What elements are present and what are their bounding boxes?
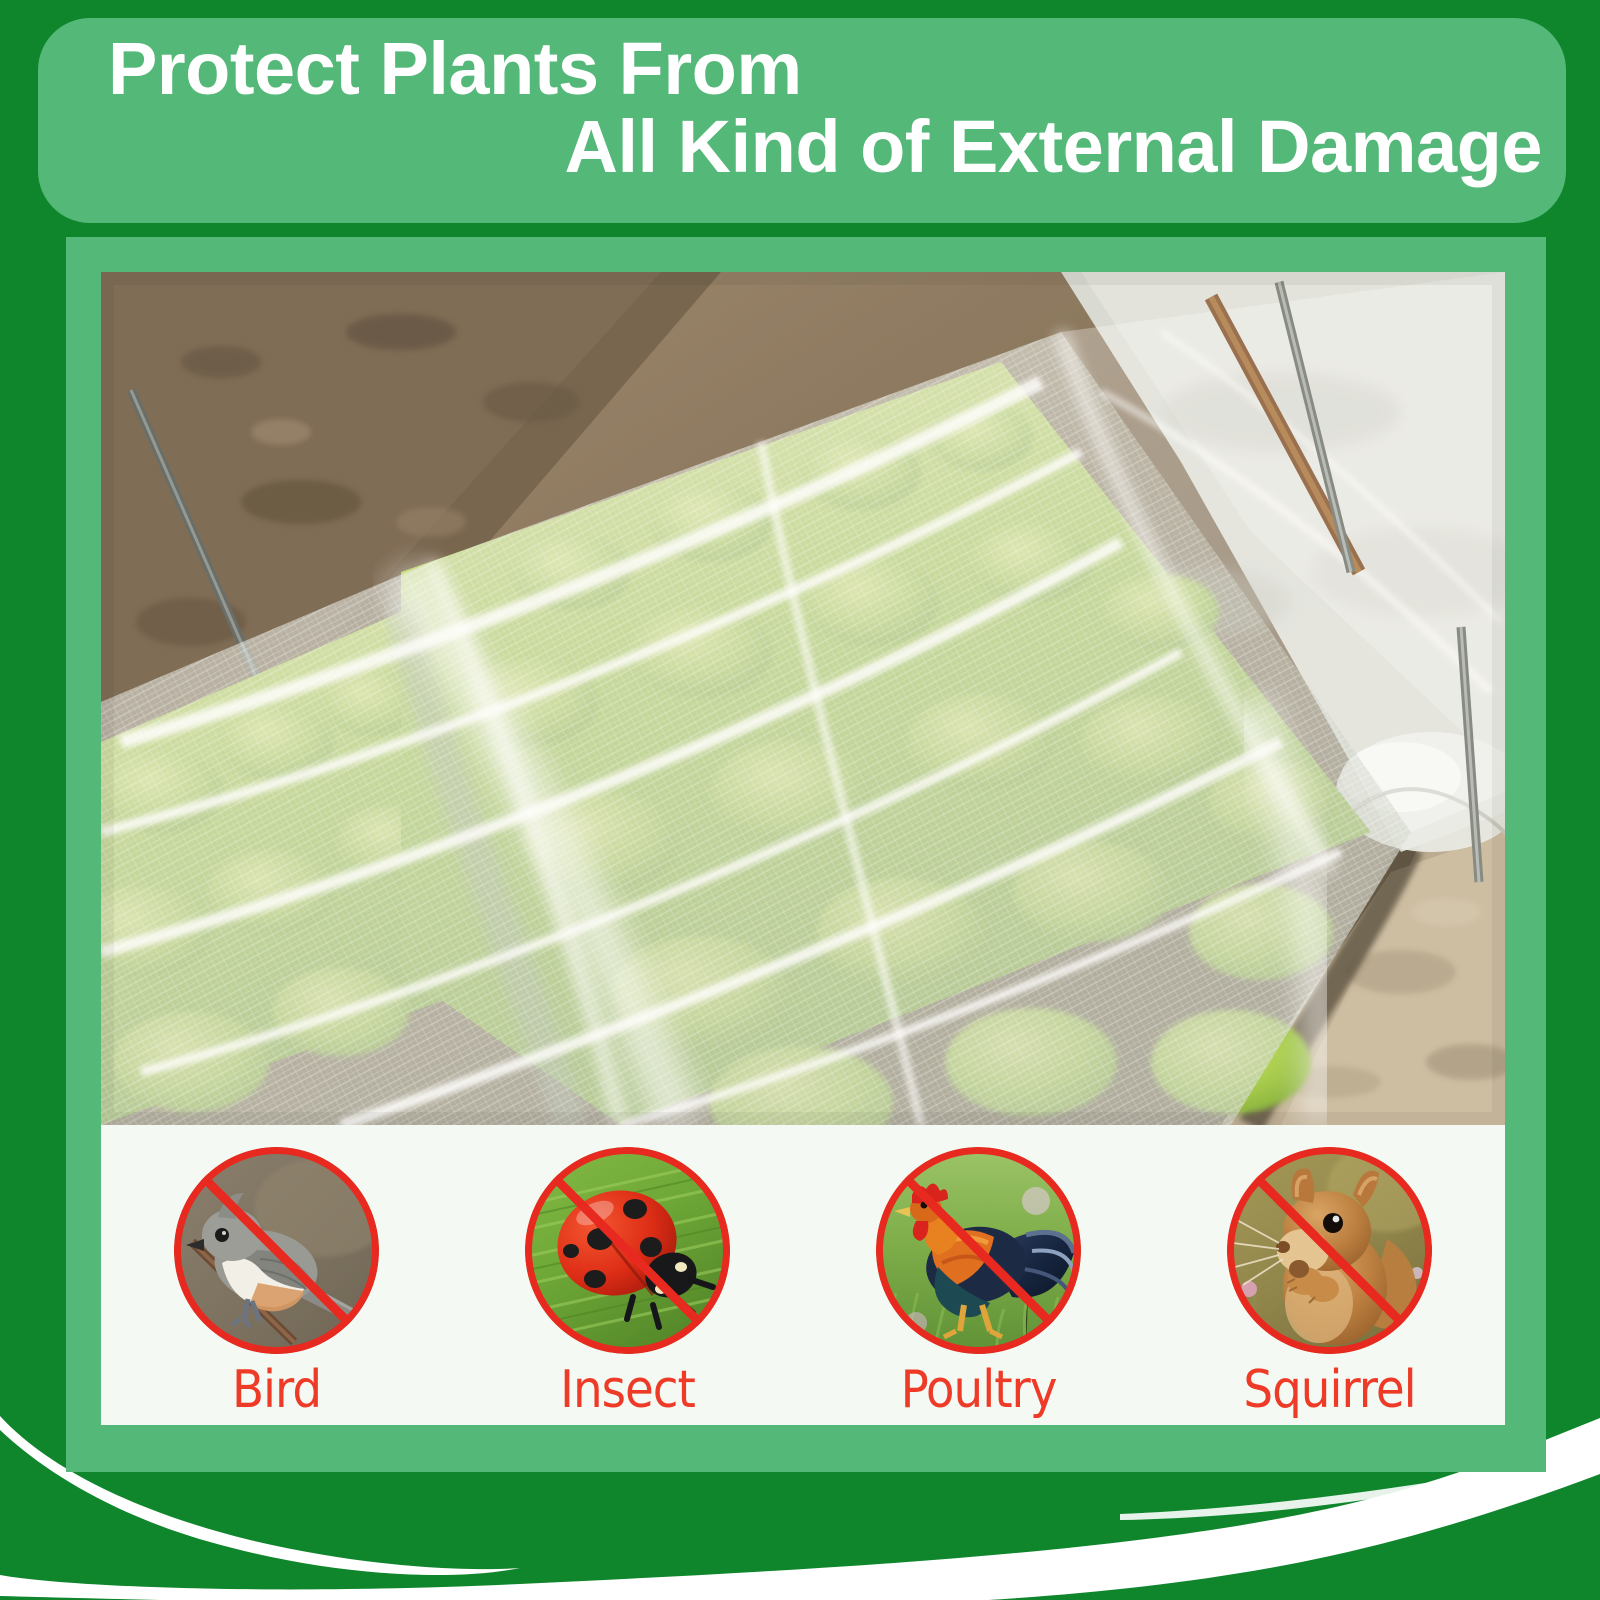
poultry-prohibited-icon	[876, 1147, 1081, 1354]
bird-prohibited-icon	[174, 1147, 379, 1354]
hero-photo-illustration	[101, 272, 1505, 1125]
bird-illustration	[174, 1147, 379, 1354]
threat-label-insect: Insect	[560, 1360, 695, 1420]
threat-label-squirrel: Squirrel	[1243, 1360, 1415, 1420]
squirrel-illustration	[1227, 1147, 1432, 1354]
threat-label-bird: Bird	[232, 1360, 321, 1420]
poultry-photo	[876, 1147, 1081, 1354]
title-line-1: Protect Plants From	[98, 30, 1548, 108]
threat-item-squirrel[interactable]: Squirrel	[1210, 1147, 1450, 1420]
title-line-2: All Kind of External Damage	[98, 108, 1548, 186]
threat-item-bird[interactable]: Bird	[157, 1147, 397, 1420]
page-title: Protect Plants From All Kind of External…	[98, 30, 1548, 185]
header-banner: Protect Plants From All Kind of External…	[38, 18, 1566, 223]
threat-icon-strip: Bird	[101, 1125, 1505, 1425]
squirrel-photo	[1227, 1147, 1432, 1354]
squirrel-prohibited-icon	[1227, 1147, 1432, 1354]
insect-prohibited-icon	[525, 1147, 730, 1354]
threat-item-insect[interactable]: Insect	[508, 1147, 748, 1420]
threat-label-poultry: Poultry	[901, 1360, 1057, 1420]
bird-photo	[174, 1147, 379, 1354]
insect-photo	[525, 1147, 730, 1354]
media-card: Bird	[101, 272, 1505, 1425]
hero-photo	[101, 272, 1505, 1125]
rooster-illustration	[876, 1147, 1081, 1354]
threat-item-poultry[interactable]: Poultry	[859, 1147, 1099, 1420]
ladybug-illustration	[525, 1147, 730, 1354]
